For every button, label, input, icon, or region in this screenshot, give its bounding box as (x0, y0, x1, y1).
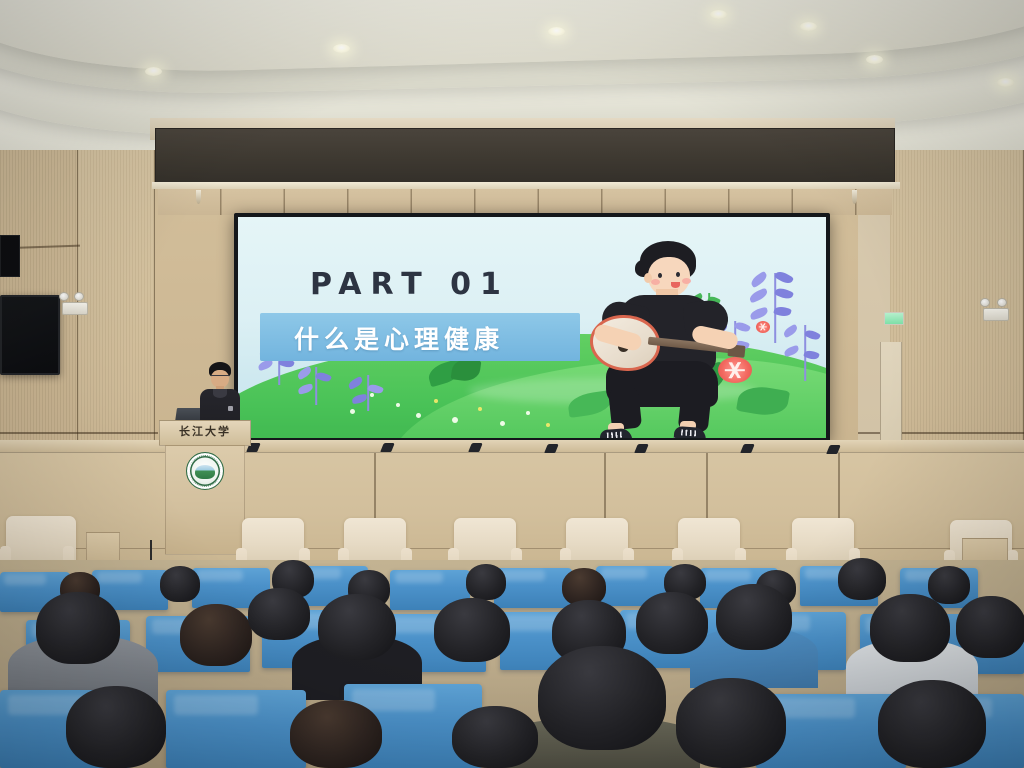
valance-hanger (196, 190, 201, 204)
slide-flower-dot (500, 421, 505, 426)
sprig-leaf (804, 328, 821, 342)
armchair-back (242, 518, 304, 562)
seat-highlight (174, 695, 258, 715)
slide-flower-dot (350, 409, 355, 414)
slide-subtitle-text: 什么是心理健康 (294, 320, 574, 356)
led-presentation-screen[interactable]: PART 01 什么是心理健康 (234, 213, 830, 442)
wall-seam (0, 432, 158, 434)
guitarist-mouth (671, 282, 680, 288)
glasses-icon (211, 375, 229, 379)
dark-screen-valance (155, 128, 895, 183)
guitarist-shoe-left (599, 428, 632, 438)
emergency-twin-lamp-box (983, 308, 1009, 321)
slide-flower-dot (416, 413, 421, 418)
armchair-back (344, 518, 406, 562)
podium-institution-text: 长江大学 (166, 423, 244, 439)
audience-head (466, 564, 506, 600)
audience-head (160, 566, 200, 602)
audience-seat[interactable] (494, 568, 572, 608)
audience-head (878, 680, 986, 768)
recessed-downlight (548, 27, 565, 36)
audience-head (838, 558, 886, 600)
seat-highlight (4, 574, 46, 584)
audience-head (248, 588, 310, 640)
slide-illustration-guitarist (588, 237, 778, 437)
audience-head (180, 604, 252, 666)
wall-mounted-monitor[interactable] (0, 295, 60, 375)
audience-head (956, 596, 1024, 658)
audience-head (452, 706, 538, 768)
slide-flower-dot (396, 403, 400, 407)
armchair-back (454, 518, 516, 562)
recessed-downlight (866, 55, 883, 64)
seat-highlight (705, 570, 752, 580)
recessed-downlight (333, 44, 350, 53)
slide-part-label: PART 01 (310, 267, 510, 302)
slide-flower-dot (478, 407, 482, 411)
audience-head (870, 594, 950, 662)
recessed-downlight (997, 78, 1014, 87)
audience-head (434, 598, 510, 662)
valance-hanger (852, 190, 857, 204)
armchair-back (792, 518, 854, 562)
audience-seat[interactable] (166, 690, 306, 768)
emergency-lamp (59, 292, 69, 301)
audience-head (716, 584, 792, 650)
shoe-laces (681, 429, 697, 436)
emergency-lamp (980, 298, 990, 307)
emergency-twin-lamp-box (62, 302, 88, 315)
guitarist-blush (651, 279, 660, 285)
audience-head (538, 646, 666, 750)
guitarist-eye (676, 272, 680, 277)
shoe-laces (607, 432, 623, 438)
slide-flower-dot (546, 423, 550, 427)
emergency-lamp (74, 292, 84, 301)
wall-mounted-monitor-upper (0, 235, 20, 277)
slide-flower-dot (526, 411, 530, 415)
seat-highlight (97, 572, 143, 582)
sprig-leaf (783, 345, 800, 357)
armchair-back (566, 518, 628, 562)
stage-ledge (0, 440, 1024, 453)
presenter-badge (228, 406, 233, 411)
seat-highlight (197, 570, 244, 580)
upper-wall-panel-strip (158, 189, 892, 215)
slide-leaf-sprig (358, 375, 378, 411)
audience-head (66, 686, 166, 768)
slide-leaf-sprig (794, 325, 816, 381)
guitarist-blush (682, 278, 691, 284)
slide-leaf-sprig (306, 367, 326, 405)
audience-head (290, 700, 382, 768)
sprig-stem (367, 375, 369, 411)
exit-sign (884, 312, 904, 325)
slide-canvas: PART 01 什么是心理健康 (238, 217, 826, 438)
guitarist-eye (658, 273, 662, 278)
audience-head (928, 566, 970, 604)
seat-highlight (601, 568, 648, 578)
slide-flower-dot (434, 399, 438, 403)
armchair-back (678, 518, 740, 562)
audience-head (36, 592, 120, 664)
recessed-downlight (710, 10, 727, 19)
seat-highlight (395, 572, 443, 582)
screen-surface: PART 01 什么是心理健康 (238, 217, 826, 438)
presenter-collar (213, 389, 227, 398)
valance-lip (152, 182, 900, 189)
recessed-downlight (145, 67, 162, 76)
audience-head (636, 592, 708, 654)
lecture-hall-scene: PART 01 什么是心理健康 长江大学 (0, 0, 1024, 768)
seal-emblem (195, 465, 215, 479)
audience-head (318, 594, 396, 660)
audience-head (676, 678, 786, 768)
university-seal-icon (186, 452, 224, 490)
emergency-lamp (997, 298, 1007, 307)
recessed-downlight (800, 22, 817, 31)
slide-flower-dot (452, 417, 458, 423)
